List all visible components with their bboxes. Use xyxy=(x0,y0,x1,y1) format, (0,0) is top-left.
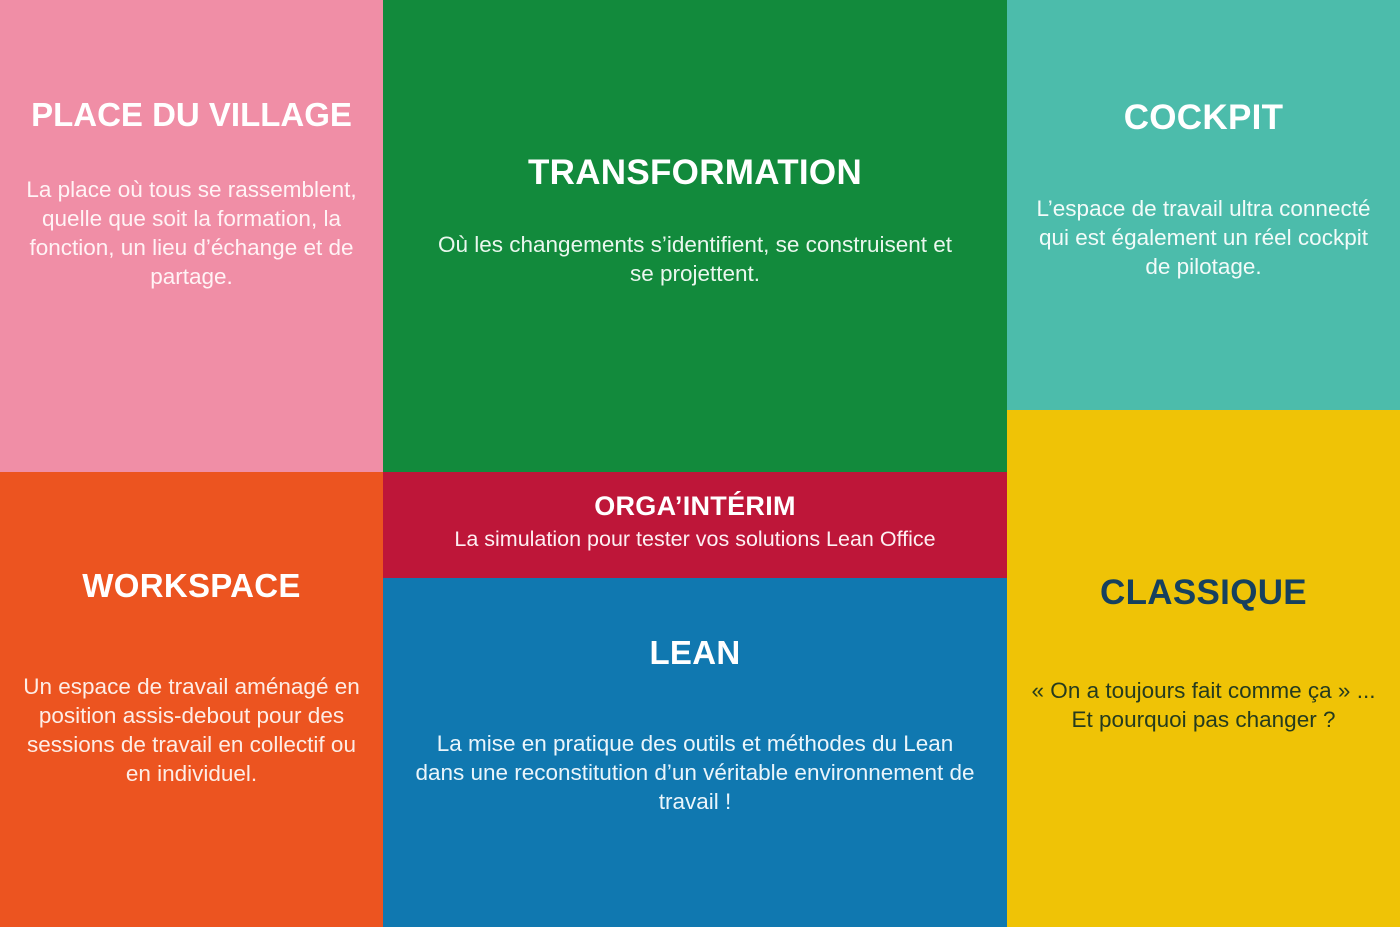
panel-workspace[interactable]: WORKSPACE Un espace de travail aménagé e… xyxy=(0,472,383,927)
panel-cockpit[interactable]: COCKPIT L’espace de travail ultra connec… xyxy=(1007,0,1400,410)
panel-orga-interim[interactable]: ORGA’INTÉRIM La simulation pour tester v… xyxy=(383,472,1007,578)
space-grid-board: PLACE DU VILLAGE La place où tous se ras… xyxy=(0,0,1400,927)
panel-description-cockpit: L’espace de travail ultra connecté qui e… xyxy=(1029,194,1379,282)
panel-title-lean: LEAN xyxy=(649,636,740,671)
panel-place-du-village[interactable]: PLACE DU VILLAGE La place où tous se ras… xyxy=(0,0,383,472)
panel-description-classique: « On a toujours fait comme ça » ... Et p… xyxy=(1029,676,1379,735)
panel-title-place-du-village: PLACE DU VILLAGE xyxy=(31,98,352,133)
panel-title-cockpit: COCKPIT xyxy=(1124,100,1284,137)
panel-title-orga-interim: ORGA’INTÉRIM xyxy=(594,492,796,520)
panel-description-orga-interim: La simulation pour tester vos solutions … xyxy=(385,526,1005,554)
panel-description-place-du-village: La place où tous se rassemblent, quelle … xyxy=(16,175,368,292)
panel-description-lean: La mise en pratique des outils et méthod… xyxy=(415,729,975,817)
panel-transformation[interactable]: TRANSFORMATION Où les changements s’iden… xyxy=(383,0,1007,472)
panel-description-workspace: Un espace de travail aménagé en position… xyxy=(22,672,362,789)
panel-title-transformation: TRANSFORMATION xyxy=(528,155,862,192)
panel-description-transformation: Où les changements s’identifient, se con… xyxy=(425,230,965,289)
panel-lean[interactable]: LEAN La mise en pratique des outils et m… xyxy=(383,578,1007,927)
panel-title-classique: CLASSIQUE xyxy=(1100,575,1307,612)
panel-title-workspace: WORKSPACE xyxy=(82,569,300,604)
panel-classique[interactable]: CLASSIQUE « On a toujours fait comme ça … xyxy=(1007,410,1400,927)
